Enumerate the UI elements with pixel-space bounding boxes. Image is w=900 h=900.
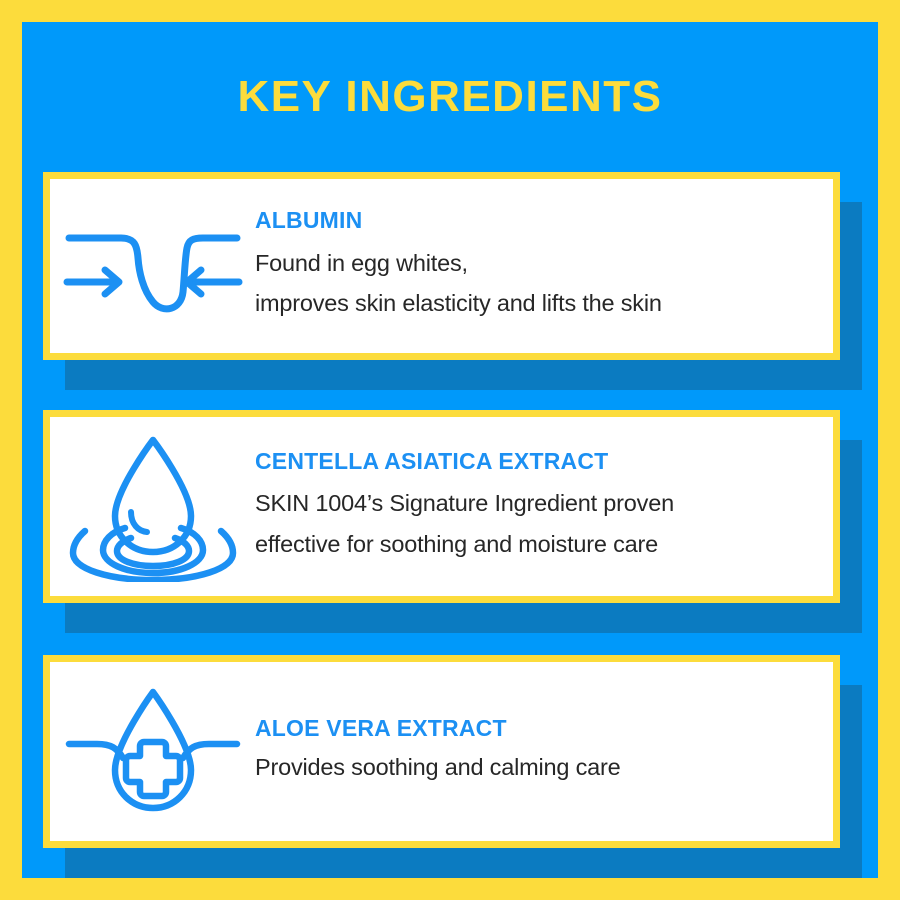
ingredient-card-centella[interactable]: CENTELLA ASIATICA EXTRACT SKIN 1004’s Si…	[43, 410, 840, 603]
ingredient-description-line: Found in egg whites,	[255, 243, 819, 283]
water-droplet-ripple-icon	[50, 417, 255, 596]
ingredient-text: ALBUMIN Found in egg whites, improves sk…	[255, 208, 833, 323]
ingredient-card-aloe[interactable]: ALOE VERA EXTRACT Provides soothing and …	[43, 655, 840, 848]
skin-pore-icon	[50, 179, 255, 353]
droplet-medical-cross-icon	[50, 662, 255, 841]
ingredient-description-line: effective for soothing and moisture care	[255, 524, 819, 564]
ingredient-text: CENTELLA ASIATICA EXTRACT SKIN 1004’s Si…	[255, 449, 833, 564]
blue-canvas: KEY INGREDIENTS	[22, 22, 878, 878]
ingredient-description-line: Provides soothing and calming care	[255, 747, 819, 787]
ingredient-description-line: improves skin elasticity and lifts the s…	[255, 283, 819, 323]
ingredient-description-line: SKIN 1004’s Signature Ingredient proven	[255, 483, 819, 523]
outer-yellow-frame: KEY INGREDIENTS	[0, 0, 900, 900]
page-title: KEY INGREDIENTS	[22, 72, 878, 122]
ingredient-card-albumin[interactable]: ALBUMIN Found in egg whites, improves sk…	[43, 172, 840, 360]
ingredient-card-aloe-wrapper: ALOE VERA EXTRACT Provides soothing and …	[43, 655, 863, 880]
ingredient-title: ALBUMIN	[255, 208, 819, 233]
ingredient-card-albumin-wrapper: ALBUMIN Found in egg whites, improves sk…	[43, 172, 863, 392]
ingredient-text: ALOE VERA EXTRACT Provides soothing and …	[255, 716, 833, 788]
ingredient-card-centella-wrapper: CENTELLA ASIATICA EXTRACT SKIN 1004’s Si…	[43, 410, 863, 635]
ingredient-title: ALOE VERA EXTRACT	[255, 716, 819, 741]
ingredient-title: CENTELLA ASIATICA EXTRACT	[255, 449, 819, 474]
